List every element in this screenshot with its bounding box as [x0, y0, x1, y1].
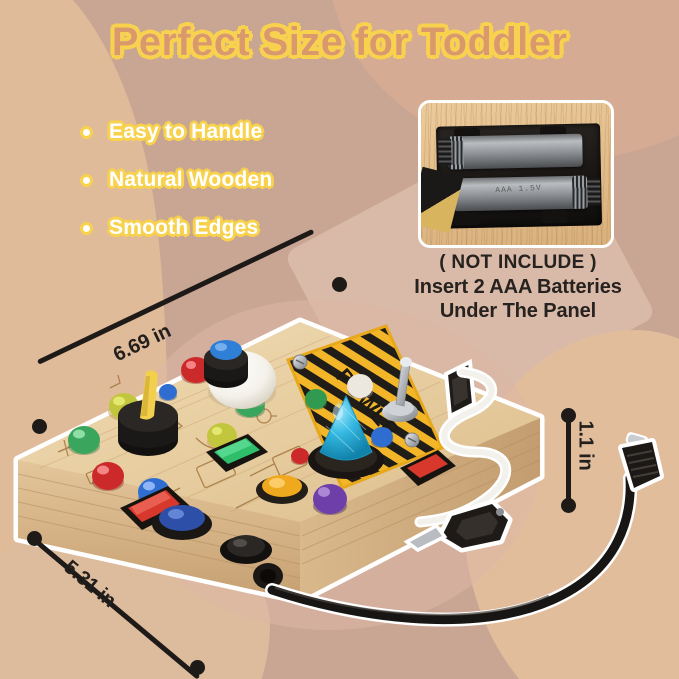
- led-white-small: [347, 374, 373, 399]
- list-item: Natural Wooden: [80, 156, 272, 204]
- dimension-endpoint: [27, 531, 42, 546]
- led-red: [92, 462, 124, 491]
- cable-clip-black: [446, 362, 474, 416]
- dimension-label: 6.69 in: [110, 320, 175, 367]
- width-dimension: 5.31 in: [24, 525, 254, 679]
- cable-grommet: [253, 563, 283, 589]
- feature-list: Easy to Handle Natural Wooden Smooth Edg…: [80, 108, 272, 252]
- screw-icon: [405, 433, 419, 447]
- battery-spring: [438, 138, 452, 165]
- feature-label: Smooth Edges: [109, 216, 258, 240]
- feature-label: Easy to Handle: [109, 120, 262, 144]
- page-title: Perfect Size for Toddler: [0, 22, 679, 62]
- aaa-battery: [448, 134, 583, 170]
- list-item: Easy to Handle: [80, 108, 272, 156]
- ring-bullet-icon: [80, 126, 93, 139]
- feature-label: Natural Wooden: [109, 168, 272, 192]
- dimension-endpoint: [190, 660, 205, 675]
- infographic-canvas: Perfect Size for Toddler Easy to Handle …: [0, 0, 679, 679]
- dimension-endpoint: [561, 498, 576, 513]
- led-red-small: [291, 448, 309, 465]
- battery-spring: [587, 178, 601, 205]
- led-purple: [313, 484, 347, 515]
- battery-tab: [454, 212, 480, 226]
- list-item: Smooth Edges: [80, 204, 272, 252]
- dimension-label: 1.1 in: [573, 421, 596, 471]
- length-dimension: 6.69 in: [28, 282, 348, 442]
- battery-terminal: [572, 176, 588, 209]
- ring-bullet-icon: [80, 222, 93, 235]
- battery-note-line-2: Insert 2 AAA Batteries: [365, 276, 671, 300]
- battery-note-line-1: ( NOT INCLUDE ): [365, 252, 671, 274]
- dimension-endpoint: [32, 419, 47, 434]
- ring-bullet-icon: [80, 174, 93, 187]
- battery-tab: [542, 210, 568, 224]
- led-blue-small: [371, 427, 393, 448]
- dimension-endpoint: [332, 277, 347, 292]
- dimension-label: 5.31 in: [59, 556, 120, 613]
- height-dimension: 1.1 in: [556, 408, 626, 513]
- battery-compartment-photo: AAA 1.5V: [418, 100, 614, 248]
- dimension-line: [566, 416, 571, 506]
- dimension-line: [32, 538, 200, 679]
